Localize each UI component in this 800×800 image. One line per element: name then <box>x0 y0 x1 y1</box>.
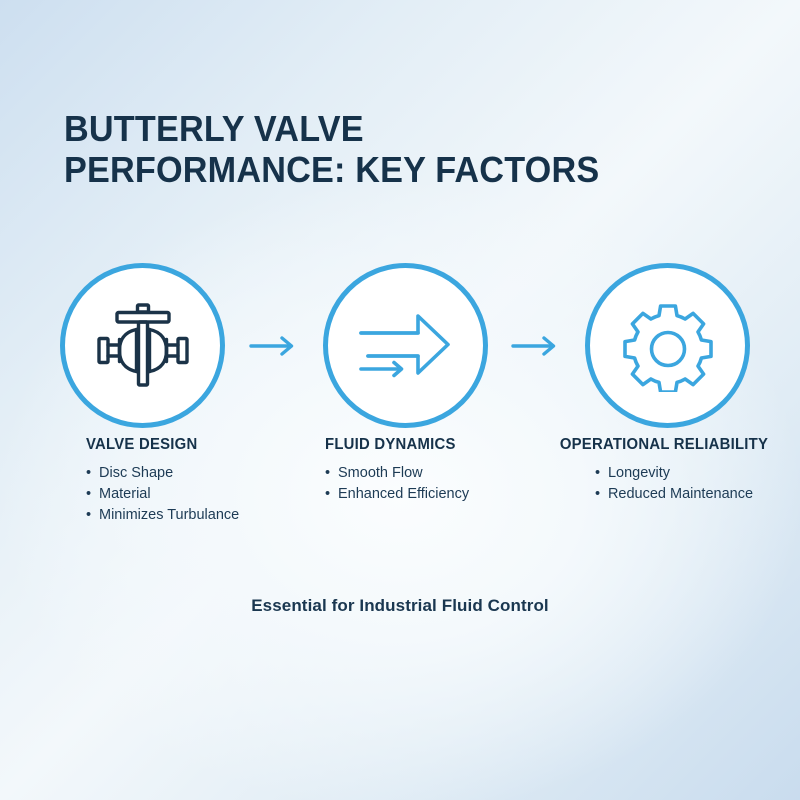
list-item: Disc Shape <box>86 463 336 484</box>
infographic-canvas: BUTTERLY VALVE PERFORMANCE: KEY FACTORS <box>0 0 800 800</box>
list-item: Smooth Flow <box>325 463 555 484</box>
flow-node-fluid-dynamics[interactable] <box>323 263 488 428</box>
arrow-right-icon <box>249 335 299 357</box>
butterfly-valve-icon <box>91 294 195 398</box>
title-line-2: PERFORMANCE: KEY FACTORS <box>64 149 720 190</box>
flow-details-columns: VALVE DESIGN Disc Shape Material Minimiz… <box>60 436 790 556</box>
footer-tagline: Essential for Industrial Fluid Control <box>0 596 800 616</box>
flow-connector-1 <box>245 333 303 359</box>
column-heading-operational-reliability: OPERATIONAL RELIABILITY <box>543 436 785 454</box>
bullet-list-valve-design: Disc Shape Material Minimizes Turbulance <box>86 463 336 526</box>
process-flow-row <box>60 258 750 433</box>
list-item: Enhanced Efficiency <box>325 484 555 505</box>
list-item: Reduced Maintenance <box>595 484 753 505</box>
list-item: Minimizes Turbulance <box>86 505 336 526</box>
list-item: Material <box>86 484 336 505</box>
bullet-list-operational-reliability: Longevity Reduced Maintenance <box>595 463 753 505</box>
title-line-1: BUTTERLY VALVE <box>64 108 720 149</box>
flow-arrows-icon <box>356 307 454 385</box>
flow-node-operational-reliability[interactable] <box>585 263 750 428</box>
gear-icon <box>622 300 714 392</box>
bullet-list-fluid-dynamics: Smooth Flow Enhanced Efficiency <box>325 463 555 505</box>
list-item: Longevity <box>595 463 753 484</box>
column-heading-fluid-dynamics: FLUID DYNAMICS <box>325 436 546 454</box>
flow-node-valve-design[interactable] <box>60 263 225 428</box>
flow-connector-2 <box>507 333 565 359</box>
arrow-right-icon <box>511 335 561 357</box>
details-column-operational-reliability: OPERATIONAL RELIABILITY Longevity Reduce… <box>538 436 790 505</box>
column-heading-valve-design: VALVE DESIGN <box>86 436 326 454</box>
page-title: BUTTERLY VALVE PERFORMANCE: KEY FACTORS <box>64 108 754 190</box>
details-column-fluid-dynamics: FLUID DYNAMICS Smooth Flow Enhanced Effi… <box>325 436 555 505</box>
details-column-valve-design: VALVE DESIGN Disc Shape Material Minimiz… <box>86 436 336 526</box>
